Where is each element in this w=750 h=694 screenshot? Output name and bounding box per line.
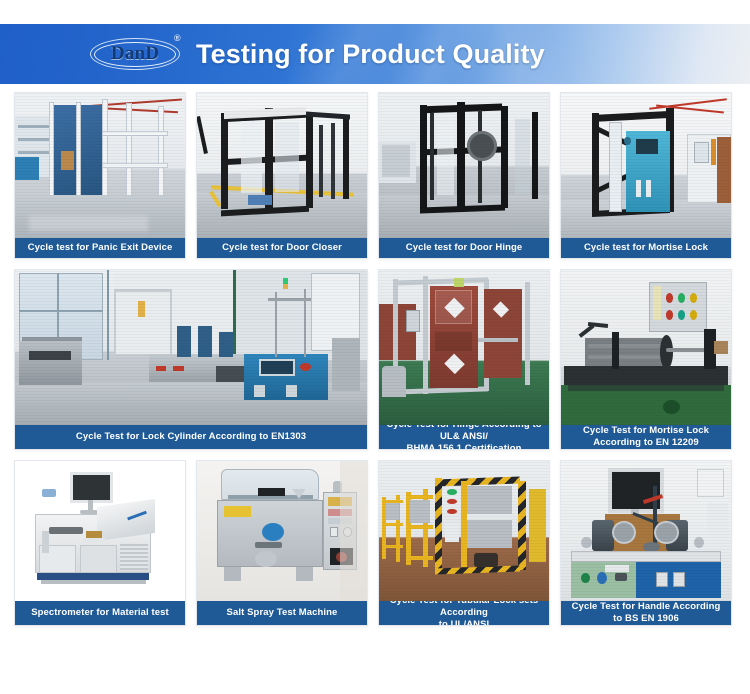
- gallery-card-handle-bs-en-1906[interactable]: Cycle Test for Handle According to BS EN…: [560, 460, 732, 626]
- page-header: DanD ® Testing for Product Quality: [0, 24, 750, 84]
- gallery-card-door-hinge[interactable]: Cycle test for Door Hinge: [378, 92, 550, 259]
- photo-lock-cylinder-en1303: [15, 270, 367, 425]
- gallery-card-spectrometer[interactable]: Spectrometer for Material test: [14, 460, 186, 626]
- photo-salt-spray: [197, 461, 367, 601]
- caption-mortise-lock-en12209: Cycle Test for Mortise Lock According to…: [561, 425, 731, 449]
- gallery-card-mortise-lock[interactable]: Cycle test for Mortise Lock: [560, 92, 732, 259]
- photo-spectrometer: [15, 461, 185, 601]
- gallery-card-salt-spray[interactable]: Salt Spray Test Machine: [196, 460, 368, 626]
- caption-door-closer: Cycle test for Door Closer: [197, 238, 367, 258]
- gallery-card-panic-exit-device[interactable]: Cycle test for Panic Exit Device: [14, 92, 186, 259]
- caption-spectrometer: Spectrometer for Material test: [15, 601, 185, 625]
- page-title: Testing for Product Quality: [196, 39, 545, 70]
- photo-door-closer: [197, 93, 367, 238]
- gallery-row-3: Spectrometer for Material test: [0, 450, 750, 626]
- photo-handle-bs-en-1906: [561, 461, 731, 601]
- gallery-row-2: Cycle Test for Lock Cylinder According t…: [0, 259, 750, 450]
- caption-mortise-lock: Cycle test for Mortise Lock: [561, 238, 731, 258]
- gallery-card-mortise-lock-en12209[interactable]: Cycle Test for Mortise Lock According to…: [560, 269, 732, 450]
- header-banner: DanD ® Testing for Product Quality: [0, 24, 750, 84]
- registered-trademark-icon: ®: [174, 33, 181, 43]
- gallery-card-tubular-lock-ul-ansi[interactable]: Cycle Test for Tubular Lock sets Accordi…: [378, 460, 550, 626]
- gallery-grid: Cycle test for Panic Exit Device: [0, 92, 750, 626]
- gallery-row-1: Cycle test for Panic Exit Device: [0, 92, 750, 259]
- photo-mortise-lock: [561, 93, 731, 238]
- testing-quality-page: DanD ® Testing for Product Quality: [0, 0, 750, 694]
- photo-door-hinge: [379, 93, 549, 238]
- caption-salt-spray: Salt Spray Test Machine: [197, 601, 367, 625]
- gallery-card-hinge-ul-ansi-bhma[interactable]: Cycle Test for Hinge According to UL& AN…: [378, 269, 550, 450]
- photo-tubular-lock-ul-ansi: [379, 461, 549, 601]
- caption-hinge-ul-ansi-bhma: Cycle Test for Hinge According to UL& AN…: [379, 425, 549, 449]
- gallery-card-lock-cylinder-en1303[interactable]: Cycle Test for Lock Cylinder According t…: [14, 269, 368, 450]
- photo-hinge-ul-ansi-bhma: [379, 270, 549, 425]
- caption-tubular-lock-ul-ansi: Cycle Test for Tubular Lock sets Accordi…: [379, 601, 549, 625]
- caption-panic-exit-device: Cycle test for Panic Exit Device: [15, 238, 185, 258]
- dand-logo: DanD ®: [90, 34, 182, 74]
- gallery-card-door-closer[interactable]: Cycle test for Door Closer: [196, 92, 368, 259]
- caption-lock-cylinder-en1303: Cycle Test for Lock Cylinder According t…: [15, 425, 367, 449]
- caption-door-hinge: Cycle test for Door Hinge: [379, 238, 549, 258]
- photo-panic-exit-device: [15, 93, 185, 238]
- caption-handle-bs-en-1906: Cycle Test for Handle According to BS EN…: [561, 601, 731, 625]
- photo-mortise-lock-en12209: [561, 270, 731, 425]
- logo-wordmark: DanD: [90, 38, 180, 70]
